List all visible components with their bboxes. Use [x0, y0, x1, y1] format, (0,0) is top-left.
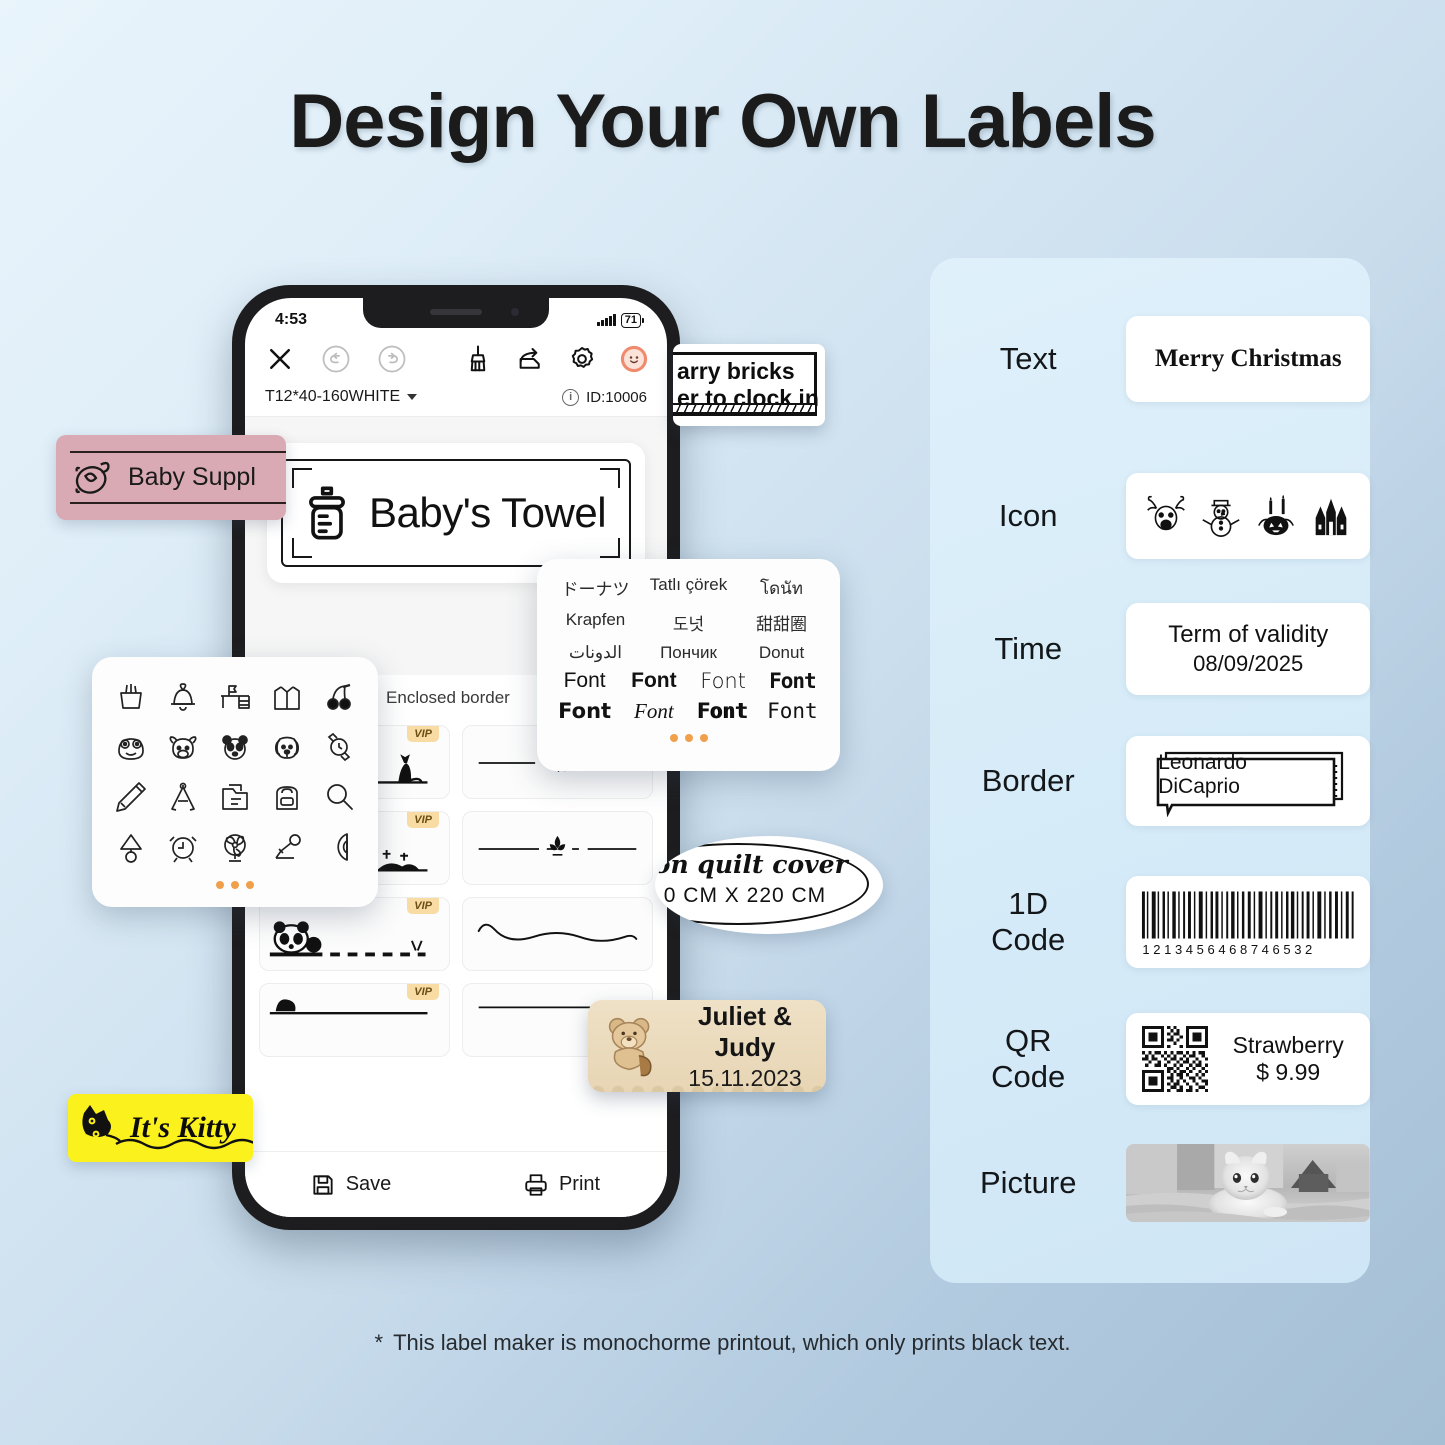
style-cell[interactable]	[462, 811, 653, 885]
quilt-script-text: ton quilt cover	[655, 850, 875, 879]
desk-lamp-icon[interactable]	[262, 825, 312, 869]
feature-row-border: Border Leonardo DiCaprio	[930, 736, 1370, 826]
label-id-text: ID:10006	[586, 389, 647, 406]
feature-card-picture	[1126, 1144, 1370, 1222]
qr-text-block: Strawberry $ 9.99	[1222, 1032, 1354, 1086]
qr-product-name: Strawberry	[1222, 1032, 1354, 1059]
feature-card-icon	[1126, 473, 1370, 559]
model-selector[interactable]: T12*40-160WHITE	[265, 388, 417, 406]
shirt-icon[interactable]	[262, 675, 312, 719]
style-cell[interactable]: VIP	[259, 983, 450, 1057]
font-library-panel[interactable]: ドーナツ Tatlı çörek โดนัท Krapfen 도넛 甜甜圈 ال…	[537, 559, 840, 771]
redo-icon[interactable]	[377, 344, 407, 374]
barcode-digits: 1 2 1 3 4 5 6 4 6 8 7 4 6 5 3 2	[1140, 939, 1356, 957]
speaker-icon	[430, 309, 482, 315]
lang-sample[interactable]: 甜甜圈	[737, 610, 826, 635]
font-samples[interactable]: Font Font Font Font Font Font Font Font	[551, 669, 826, 724]
magnifier-icon[interactable]	[314, 775, 364, 819]
lang-sample[interactable]: Krapfen	[551, 610, 640, 635]
label-line-2: Code	[930, 1059, 1126, 1095]
footer-text: This label maker is monochorme printout,…	[393, 1330, 1070, 1355]
font-sample[interactable]: Font	[690, 669, 757, 693]
avatar-icon[interactable]	[619, 344, 649, 374]
lang-sample[interactable]: Пончик	[644, 643, 733, 663]
font-sample[interactable]: Font	[759, 669, 826, 693]
sticker-kitty: It's Kitty	[68, 1094, 253, 1162]
save-icon	[310, 1172, 336, 1198]
tab-enclosed-border[interactable]: Enclosed border	[372, 681, 524, 715]
feature-row-qr: QR Code	[930, 1013, 1370, 1105]
feature-label-border: Border	[930, 763, 1126, 799]
broom-icon[interactable]	[463, 344, 493, 374]
print-button[interactable]: Print	[456, 1172, 667, 1198]
print-label: Print	[559, 1173, 600, 1196]
page-title: Design Your Own Labels	[0, 78, 1445, 165]
alarm-clock-icon[interactable]	[158, 825, 208, 869]
label-id[interactable]: i ID:10006	[562, 389, 647, 406]
close-icon[interactable]	[265, 344, 295, 374]
feature-card-barcode: 1 2 1 3 4 5 6 4 6 8 7 4 6 5 3 2	[1126, 876, 1370, 968]
chevron-down-icon	[407, 394, 417, 400]
lang-sample[interactable]: Tatlı çörek	[644, 575, 733, 602]
print-icon	[523, 1172, 549, 1198]
squiggle-line-icon	[114, 1136, 253, 1150]
watch-icon[interactable]	[314, 725, 364, 769]
font-sample[interactable]: Font	[690, 699, 757, 724]
status-indicators: 71	[597, 313, 641, 328]
sticker-juliet-judy: Juliet & Judy 15.11.2023	[588, 1000, 826, 1092]
haunted-castle-icon	[1308, 493, 1354, 539]
feature-row-picture: Picture	[930, 1143, 1370, 1223]
label-line-1: 1D	[930, 886, 1126, 922]
cherry-icon[interactable]	[314, 675, 364, 719]
icon-panel-pager[interactable]	[106, 881, 364, 889]
lang-sample[interactable]: Donut	[737, 643, 826, 663]
sticker-quilt-cover: ton quilt cover 0 CM X 220 CM	[655, 836, 883, 934]
feature-card-qr: Strawberry $ 9.99	[1126, 1013, 1370, 1105]
icon-library-panel[interactable]	[92, 657, 378, 907]
baby-bottle-icon	[301, 484, 353, 542]
qr-code-icon	[1142, 1026, 1208, 1092]
bell-icon[interactable]	[158, 675, 208, 719]
font-sample[interactable]: Font	[620, 669, 687, 693]
bear-names: Juliet & Judy	[672, 1001, 818, 1063]
feature-row-text: Text Merry Christmas	[930, 316, 1370, 402]
swirl-flourish-line-icon	[463, 898, 652, 970]
status-time: 4:53	[275, 311, 307, 329]
reindeer-icon	[1143, 493, 1189, 539]
fan-icon[interactable]	[210, 825, 260, 869]
lang-sample[interactable]: ドーナツ	[551, 575, 640, 602]
save-label: Save	[346, 1173, 392, 1196]
border-sample-text: Leonardo DiCaprio	[1150, 745, 1334, 791]
kitten-photo	[1126, 1144, 1370, 1222]
hatch-pattern	[673, 403, 815, 414]
icon-sample-row	[1126, 493, 1370, 539]
protractor-icon[interactable]	[314, 825, 364, 869]
backpack-icon[interactable]	[262, 775, 312, 819]
feature-label-text: Text	[930, 341, 1126, 377]
corner-handle-bl	[292, 538, 312, 558]
rule-top	[70, 451, 286, 453]
dog-icon[interactable]	[262, 725, 312, 769]
feature-row-time: Time Term of validity 08/09/2025	[930, 603, 1370, 695]
phone-notch	[363, 298, 549, 328]
style-cell[interactable]	[462, 897, 653, 971]
label-preview[interactable]: Baby's Towel	[281, 459, 631, 567]
time-date: 08/09/2025	[1193, 651, 1303, 677]
time-title: Term of validity	[1168, 621, 1328, 649]
font-panel-pager[interactable]	[551, 734, 826, 742]
feature-row-icon: Icon	[930, 473, 1370, 559]
lamp-icon[interactable]	[106, 825, 156, 869]
feature-label-1d-code: 1D Code	[930, 886, 1126, 958]
footer-note: *This label maker is monochorme printout…	[0, 1330, 1445, 1356]
lang-sample[interactable]: الدونات	[551, 643, 640, 663]
clockin-line1: arry bricks	[677, 358, 825, 385]
app-toolbar	[245, 336, 667, 384]
signal-icon	[597, 314, 616, 326]
compass-icon[interactable]	[158, 775, 208, 819]
pumpkin-candle-icon	[1253, 493, 1299, 539]
feature-label-icon: Icon	[930, 498, 1126, 534]
sticker-clock-in: arry bricks er to clock in	[673, 344, 825, 426]
qr-sample: Strawberry $ 9.99	[1126, 1026, 1370, 1092]
save-button[interactable]: Save	[245, 1172, 456, 1198]
pencil-icon[interactable]	[106, 775, 156, 819]
rule-bottom	[70, 502, 286, 504]
feature-panel: Text Merry Christmas Icon	[930, 258, 1370, 1283]
info-icon: i	[562, 389, 579, 406]
footer-asterisk: *	[375, 1330, 384, 1355]
battery-icon: 71	[621, 313, 641, 328]
font-sample[interactable]: Font	[551, 699, 618, 724]
feature-card-text: Merry Christmas	[1126, 316, 1370, 402]
sticker-baby-text: Baby Suppl	[128, 463, 256, 492]
corner-handle-br	[600, 538, 620, 558]
scallop-decoration	[588, 1078, 826, 1092]
panda-bamboo-line-icon	[260, 898, 449, 970]
feature-card-border: Leonardo DiCaprio	[1126, 736, 1370, 826]
model-bar: T12*40-160WHITE i ID:10006	[245, 384, 667, 417]
cow-icon[interactable]	[158, 725, 208, 769]
undo-icon[interactable]	[321, 344, 351, 374]
gear-icon[interactable]	[567, 344, 597, 374]
feature-label-time: Time	[930, 631, 1126, 667]
feature-label-picture: Picture	[930, 1165, 1126, 1201]
font-sample[interactable]: Font	[759, 699, 826, 724]
style-cell[interactable]: VIP	[259, 897, 450, 971]
label-line-2: Code	[930, 922, 1126, 958]
barcode-sample: 1 2 1 3 4 5 6 4 6 8 7 4 6 5 3 2	[1126, 881, 1370, 963]
panda-icon[interactable]	[210, 725, 260, 769]
teddy-bear-icon	[594, 1007, 672, 1085]
feature-label-qr-code: QR Code	[930, 1023, 1126, 1095]
share-icon[interactable]	[515, 344, 545, 374]
border-sample: Leonardo DiCaprio	[1150, 745, 1346, 817]
snowman-icon	[1198, 493, 1244, 539]
feature-row-barcode: 1D Code	[930, 876, 1370, 968]
text-sample-value: Merry Christmas	[1155, 345, 1342, 373]
lang-sample[interactable]: 도넛	[644, 610, 733, 635]
icon-grid[interactable]	[106, 675, 364, 869]
frog-icon[interactable]	[106, 725, 156, 769]
qr-product-price: $ 9.99	[1222, 1059, 1354, 1086]
label-text: Baby's Towel	[369, 489, 606, 537]
language-samples[interactable]: ドーナツ Tatlı çörek โดนัท Krapfen 도넛 甜甜圈 ال…	[551, 575, 826, 663]
model-label: T12*40-160WHITE	[265, 388, 400, 406]
camera-icon	[511, 308, 519, 316]
baby-bottle-icon	[72, 455, 118, 501]
desk-icon[interactable]	[210, 675, 260, 719]
corner-handle-tr	[600, 468, 620, 488]
feature-card-time: Term of validity 08/09/2025	[1126, 603, 1370, 695]
barcode-icon	[1140, 891, 1356, 939]
corner-handle-tl	[292, 468, 312, 488]
pen-holder-icon[interactable]	[106, 675, 156, 719]
ghost-line-icon	[260, 984, 449, 1056]
font-sample[interactable]: Font	[551, 669, 618, 693]
lang-sample[interactable]: โดนัท	[737, 575, 826, 602]
fleur-dash-line-icon	[463, 812, 652, 884]
font-sample[interactable]: Font	[620, 699, 687, 724]
phone-bottom-bar: Save Print	[245, 1151, 667, 1217]
folder-icon[interactable]	[210, 775, 260, 819]
sticker-baby-supplies: Baby Suppl	[56, 435, 286, 520]
quilt-dimensions: 0 CM X 220 CM	[655, 884, 875, 908]
label-line-1: QR	[930, 1023, 1126, 1059]
